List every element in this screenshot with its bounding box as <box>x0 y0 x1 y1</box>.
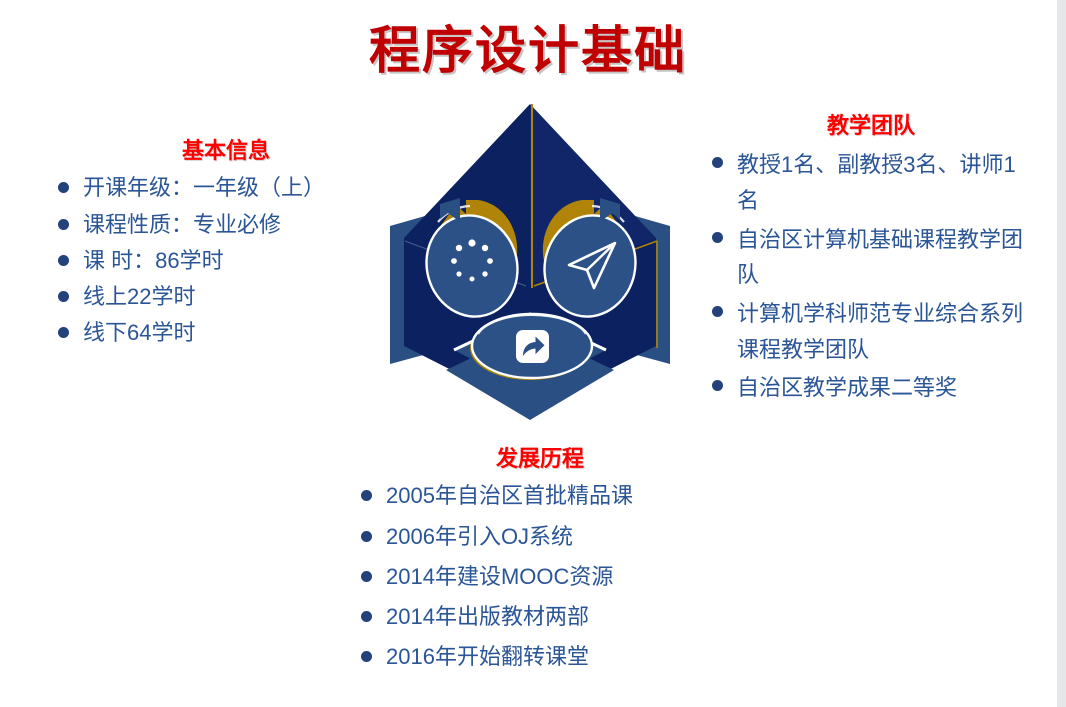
bullet-dot-icon <box>361 531 372 542</box>
bullet-dot-icon <box>58 291 69 302</box>
list-item: 线下64学时 <box>58 317 388 348</box>
list-item-label: 2005年自治区首批精品课 <box>386 480 725 511</box>
list-item: 课程性质：专业必修 <box>58 209 388 240</box>
badge-bottom <box>470 314 592 380</box>
bullet-dot-icon <box>712 380 723 391</box>
section-teaching-team: 教学团队 教授1名、副教授3名、讲师1名 自治区计算机基础课程教学团队 计算机学… <box>712 113 1030 409</box>
bullet-dot-icon <box>58 219 69 230</box>
list-item: 2006年引入OJ系统 <box>345 521 725 552</box>
list-item-label: 2014年建设MOOC资源 <box>386 561 725 592</box>
development-history-list: 2005年自治区首批精品课 2006年引入OJ系统 2014年建设MOOC资源 … <box>345 480 725 672</box>
slide-canvas: 程序设计基础 <box>0 0 1066 707</box>
list-item-label: 开课年级：一年级（上） <box>83 172 388 203</box>
bullet-dot-icon <box>361 651 372 662</box>
bullet-dot-icon <box>58 327 69 338</box>
list-item-label: 自治区计算机基础课程教学团队 <box>737 222 1030 293</box>
list-item-label: 课 时：86学时 <box>83 245 388 276</box>
list-item: 线上22学时 <box>58 281 388 312</box>
bullet-dot-icon <box>361 611 372 622</box>
share-arrow-icon <box>516 330 549 363</box>
list-item: 2016年开始翻转课堂 <box>345 641 725 672</box>
list-item-label: 课程性质：专业必修 <box>83 209 388 240</box>
list-item: 2005年自治区首批精品课 <box>345 480 725 511</box>
list-item: 2014年建设MOOC资源 <box>345 561 725 592</box>
teaching-team-list: 教授1名、副教授3名、讲师1名 自治区计算机基础课程教学团队 计算机学科师范专业… <box>712 147 1030 405</box>
list-item-label: 自治区教学成果二等奖 <box>737 370 1030 406</box>
section-development-history: 发展历程 2005年自治区首批精品课 2006年引入OJ系统 2014年建设MO… <box>345 446 725 682</box>
list-item: 自治区教学成果二等奖 <box>712 370 1030 406</box>
bullet-dot-icon <box>361 571 372 582</box>
list-item: 自治区计算机基础课程教学团队 <box>712 222 1030 293</box>
list-item-label: 2006年引入OJ系统 <box>386 521 725 552</box>
list-item-label: 2016年开始翻转课堂 <box>386 641 725 672</box>
bullet-dot-icon <box>58 182 69 193</box>
section-basic-info: 基本信息 开课年级：一年级（上） 课程性质：专业必修 课 时：86学时 线上22… <box>58 138 388 354</box>
list-item: 教授1名、副教授3名、讲师1名 <box>712 147 1030 218</box>
slide-edge-strip <box>1057 0 1066 707</box>
bullet-dot-icon <box>712 306 723 317</box>
basic-info-list: 开课年级：一年级（上） 课程性质：专业必修 课 时：86学时 线上22学时 线下… <box>58 172 388 348</box>
section-heading-teaching-team: 教学团队 <box>712 113 1030 139</box>
list-item: 课 时：86学时 <box>58 245 388 276</box>
page-title: 程序设计基础 <box>0 22 1056 81</box>
bullet-dot-icon <box>58 255 69 266</box>
list-item-label: 计算机学科师范专业综合系列课程教学团队 <box>737 296 1030 367</box>
list-item: 计算机学科师范专业综合系列课程教学团队 <box>712 296 1030 367</box>
list-item: 开课年级：一年级（上） <box>58 172 388 203</box>
bullet-dot-icon <box>361 490 372 501</box>
list-item-label: 2014年出版教材两部 <box>386 601 725 632</box>
list-item-label: 教授1名、副教授3名、讲师1名 <box>737 147 1030 218</box>
isometric-cube-graphic <box>368 98 692 446</box>
list-item: 2014年出版教材两部 <box>345 601 725 632</box>
section-heading-basic-info: 基本信息 <box>58 138 388 164</box>
bullet-dot-icon <box>712 232 723 243</box>
list-item-label: 线上22学时 <box>83 281 388 312</box>
section-heading-development-history: 发展历程 <box>345 446 725 472</box>
bullet-dot-icon <box>712 157 723 168</box>
list-item-label: 线下64学时 <box>83 317 388 348</box>
